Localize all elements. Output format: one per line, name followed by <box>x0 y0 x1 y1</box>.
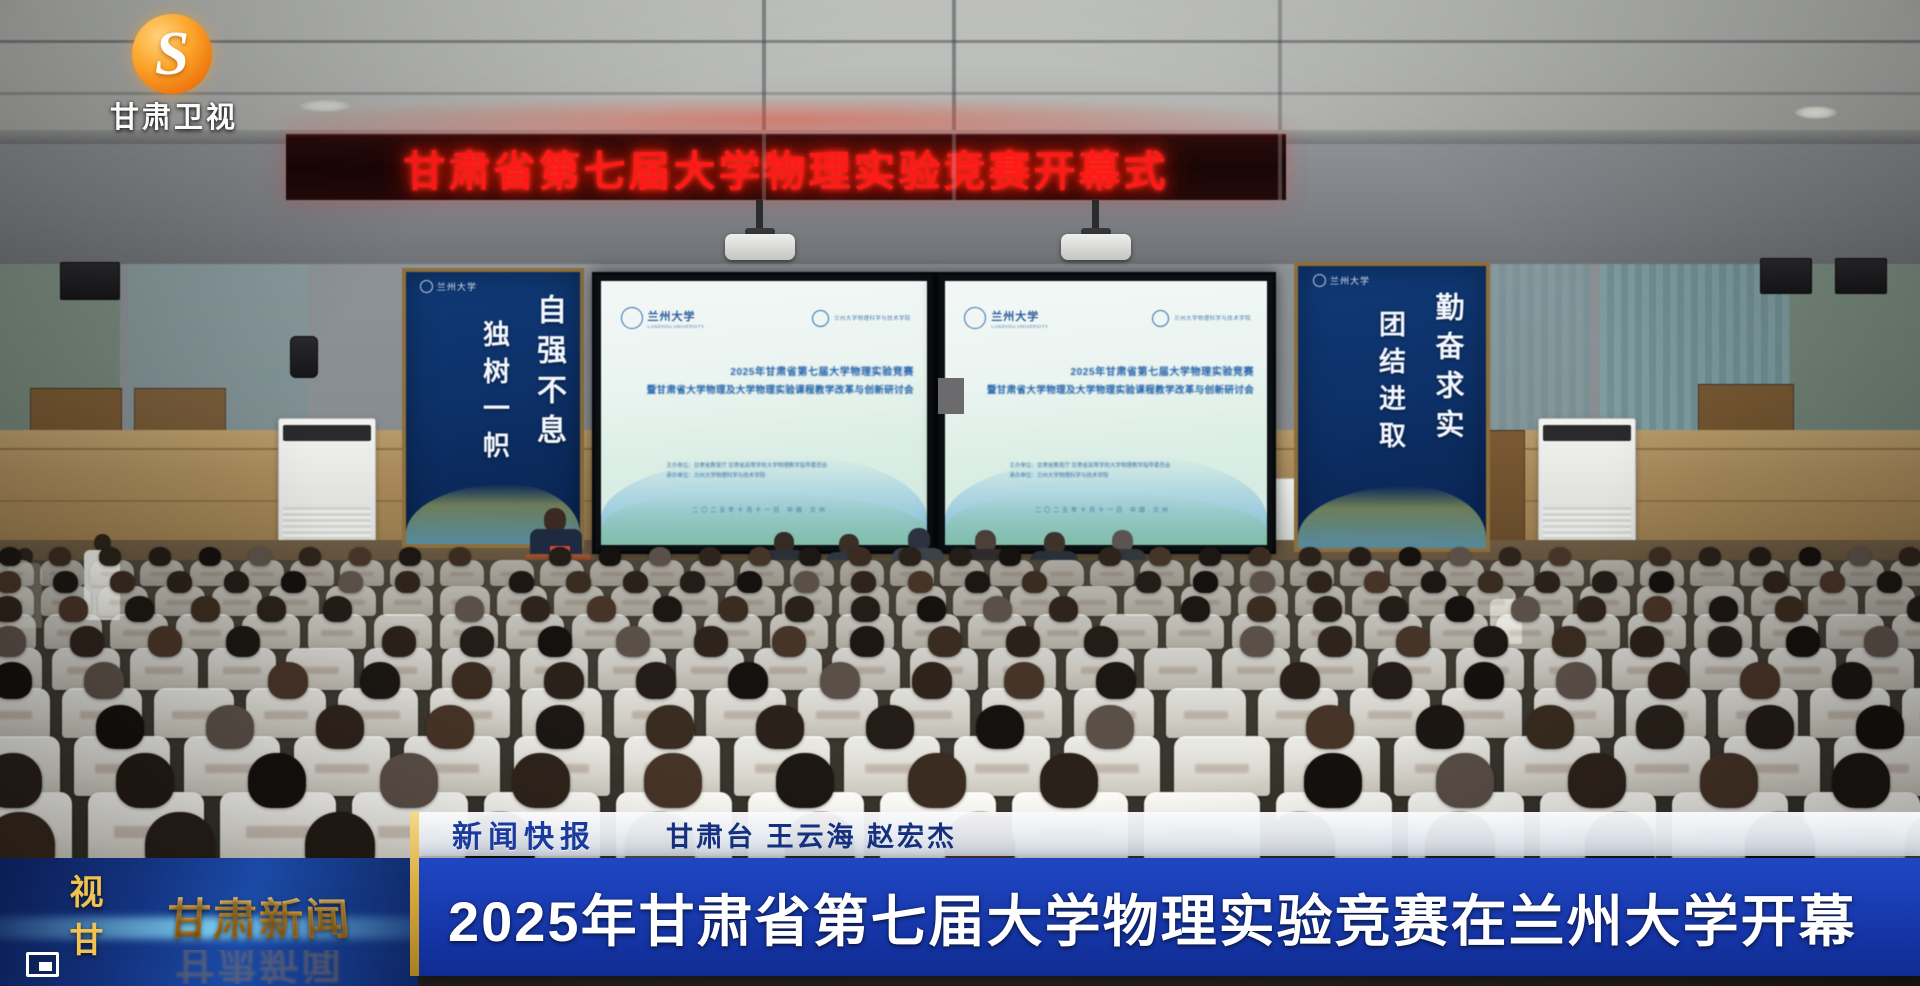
audience-head <box>116 753 174 808</box>
projection-screen-left: 兰州大学 LANZHOU UNIVERSITY 兰州大学物理科学与技术学院 20… <box>592 272 936 554</box>
lanzhou-university-logo: 兰州大学 LANZHOU UNIVERSITY <box>621 307 705 329</box>
banner-right: 兰州大学 勤奋求实 团结进取 <box>1294 262 1490 552</box>
audience-head <box>756 705 804 749</box>
audience-head <box>1535 571 1560 593</box>
slide-date-line: 二〇二五年十月十一日 中国·兰州 <box>1035 505 1171 514</box>
audience-head <box>1421 571 1446 593</box>
audience-head <box>1763 571 1788 593</box>
audience-head <box>249 547 271 566</box>
audience-head <box>1511 596 1540 622</box>
audience-head <box>1445 596 1474 622</box>
audience-head <box>776 753 834 808</box>
audience-head <box>820 662 860 699</box>
audience-chair <box>1902 688 1920 738</box>
audience-head <box>1746 705 1794 749</box>
slide-org-name-en: LANZHOU UNIVERSITY <box>648 324 705 329</box>
slide-title-line2: 暨甘肃省大学物理及大学物理实验课程教学改革与创新研讨会 <box>971 382 1254 396</box>
audience-head <box>1649 547 1671 566</box>
partner-seal-icon <box>1152 310 1169 327</box>
audience-head <box>1022 571 1047 593</box>
audience-head <box>452 662 492 699</box>
audience-head <box>226 626 260 657</box>
audience-chair <box>1174 736 1270 796</box>
audience-head <box>728 662 768 699</box>
banner-left-header: 兰州大学 <box>420 280 477 293</box>
audience-head <box>1899 547 1920 566</box>
audience-head <box>99 547 121 566</box>
audience-head <box>382 626 416 657</box>
university-seal-icon <box>964 307 986 329</box>
audience-head <box>1699 547 1721 566</box>
lower-third-headline-bar: 2025年甘肃省第七届大学物理实验竞赛在兰州大学开幕 <box>418 858 1920 976</box>
audience-head <box>191 596 220 622</box>
audience-head <box>1436 753 1494 808</box>
audience-head <box>206 705 254 749</box>
slide-org-name-en: LANZHOU UNIVERSITY <box>991 324 1048 329</box>
audience-head <box>0 626 26 657</box>
audience-head <box>1240 626 1274 657</box>
lower-third-accent-bar <box>410 812 419 976</box>
audience-head <box>268 662 308 699</box>
university-seal-icon <box>621 307 643 329</box>
audience-head <box>1877 571 1902 593</box>
audience-head <box>1304 753 1362 808</box>
audience-head <box>1556 662 1596 699</box>
university-seal-icon <box>1313 274 1326 287</box>
audience-head <box>737 571 762 593</box>
audience-head <box>455 596 484 622</box>
audience-head <box>536 705 584 749</box>
banner-left-motto-right: 自强不息 <box>526 294 570 504</box>
channel-name: 甘肃卫视 <box>110 94 350 136</box>
program-logo: 视甘 甘肃新闻 甘肃新闻 <box>0 858 418 986</box>
audience-head <box>794 571 819 593</box>
audience-head <box>1775 596 1804 622</box>
broadcast-frame: 甘肃省第七届大学物理实验竞赛开幕式 兰州大学 自强不息 独树一帜 <box>0 0 1920 986</box>
audience-head <box>908 753 966 808</box>
audience-head <box>1399 547 1421 566</box>
audience-head <box>1193 571 1218 593</box>
slide-meta-block: 主办单位：甘肃省教育厅 甘肃省高等学校大学物理教学指导委员会 承办单位：兰州大学… <box>666 461 827 482</box>
program-title: 甘肃新闻 <box>164 885 354 948</box>
audience-head <box>167 571 192 593</box>
audience-head <box>1549 547 1571 566</box>
audience-head <box>1086 705 1134 749</box>
banner-left-org: 兰州大学 <box>437 280 477 293</box>
audience-head <box>772 626 806 657</box>
audience-head <box>399 547 421 566</box>
audience-head <box>799 547 821 566</box>
ceiling-projector <box>1061 234 1131 260</box>
audience-head <box>1799 547 1821 566</box>
news-headline: 2025年甘肃省第七届大学物理实验竞赛在兰州大学开幕 <box>448 877 1857 958</box>
audience-head <box>96 705 144 749</box>
audience-head <box>1307 571 1332 593</box>
partner-seal-icon <box>812 310 829 327</box>
audience-head <box>323 596 352 622</box>
slide-org-name: 兰州大学 <box>648 308 705 324</box>
air-conditioner <box>1538 418 1636 560</box>
audience-head <box>866 705 914 749</box>
audience-head <box>623 571 648 593</box>
audience-head <box>1349 547 1371 566</box>
audience-head <box>1474 626 1508 657</box>
audience-head <box>1709 596 1738 622</box>
audience-head <box>1318 626 1352 657</box>
banner-right-motto-left: 团结进取 <box>1371 310 1410 500</box>
audience-head <box>257 596 286 622</box>
slide-partner-name: 兰州大学物理科学与技术学院 <box>834 314 911 322</box>
audience-head <box>1372 662 1412 699</box>
projection-screen-left-image: 兰州大学 LANZHOU UNIVERSITY 兰州大学物理科学与技术学院 20… <box>601 281 927 545</box>
audience-head <box>521 596 550 622</box>
audience-head <box>1526 705 1574 749</box>
audience-head <box>426 705 474 749</box>
slide-meta-line1: 主办单位：甘肃省教育厅 甘肃省高等学校大学物理教学指导委员会 <box>1009 461 1170 471</box>
audience-head <box>1249 547 1271 566</box>
banner-left-motto-left: 独树一帜 <box>475 320 514 510</box>
audience-head <box>1250 571 1275 593</box>
audience-head <box>380 753 438 808</box>
audience-head <box>1832 753 1890 808</box>
audience-head <box>1181 596 1210 622</box>
window-mullion <box>952 134 956 200</box>
audience-head <box>653 596 682 622</box>
audience-head <box>544 662 584 699</box>
audience-head <box>395 571 420 593</box>
audience-head <box>1280 662 1320 699</box>
audience-head <box>965 571 990 593</box>
audience-head <box>1552 626 1586 657</box>
wall-speaker <box>1760 258 1812 294</box>
audience-head <box>599 547 621 566</box>
audience-head <box>1084 626 1118 657</box>
audience-head <box>1396 626 1430 657</box>
banner-right-org: 兰州大学 <box>1330 274 1370 287</box>
audience-chair <box>1166 688 1246 738</box>
audience-head <box>1049 596 1078 622</box>
audience-head <box>1700 753 1758 808</box>
audience-head <box>1568 753 1626 808</box>
audience-head <box>460 626 494 657</box>
slide-title-line1: 2025年甘肃省第七届大学物理实验竞赛 <box>627 363 914 378</box>
audience-head <box>110 571 135 593</box>
window-mullion <box>762 134 766 200</box>
wall-speaker <box>60 262 120 300</box>
audience-head <box>999 547 1021 566</box>
audience-head <box>549 547 571 566</box>
audience-head <box>680 571 705 593</box>
audience-head <box>976 705 1024 749</box>
slide-title-block: 2025年甘肃省第七届大学物理实验竞赛 暨甘肃省大学物理及大学物理实验课程教学改… <box>971 363 1254 396</box>
slide-org-name: 兰州大学 <box>991 308 1048 324</box>
audience-head <box>125 596 154 622</box>
news-kicker: 新闻快报 <box>452 812 596 856</box>
audience-head <box>148 626 182 657</box>
air-conditioner <box>278 418 376 560</box>
audience-head <box>1636 705 1684 749</box>
audience-head <box>636 662 676 699</box>
audience-head <box>1708 626 1742 657</box>
banner-left: 兰州大学 自强不息 独树一帜 <box>402 268 584 548</box>
audience-head <box>224 571 249 593</box>
audience-head <box>338 571 363 593</box>
audience-head <box>248 753 306 808</box>
audience-head <box>538 626 572 657</box>
audience-head <box>851 596 880 622</box>
audience-head <box>699 547 721 566</box>
audience-head <box>59 596 88 622</box>
audience-head <box>899 547 921 566</box>
slide-meta-block: 主办单位：甘肃省教育厅 甘肃省高等学校大学物理教学指导委员会 承办单位：兰州大学… <box>1009 461 1170 482</box>
audience-head <box>851 571 876 593</box>
audience-head <box>1464 662 1504 699</box>
wall-speaker <box>290 336 318 378</box>
channel-logo-letter: S <box>132 14 212 94</box>
partner-logo: 兰州大学物理科学与技术学院 <box>1152 310 1251 327</box>
ceiling-projector <box>725 234 795 260</box>
audience-head <box>1149 547 1171 566</box>
audience-head <box>1907 596 1920 622</box>
audience-head <box>785 596 814 622</box>
window-mullion <box>1278 134 1282 200</box>
banner-right-header: 兰州大学 <box>1313 274 1370 287</box>
audience-head <box>1849 547 1871 566</box>
audience-chair <box>1144 648 1212 690</box>
audience-head <box>1786 626 1820 657</box>
program-title-3d: 甘肃新闻 <box>128 876 390 954</box>
program-logo-vertical-text: 视甘 <box>58 874 107 970</box>
audience-head <box>1832 662 1872 699</box>
ceiling-drop <box>938 378 964 414</box>
audience-head <box>644 753 702 808</box>
audience-head <box>649 547 671 566</box>
slide-title-block: 2025年甘肃省第七届大学物理实验竞赛 暨甘肃省大学物理及大学物理实验课程教学改… <box>627 363 914 396</box>
audience-head <box>983 596 1012 622</box>
audience-head <box>1749 547 1771 566</box>
audience-head <box>616 626 650 657</box>
led-banner: 甘肃省第七届大学物理实验竞赛开幕式 <box>286 134 1286 200</box>
audience-head <box>917 596 946 622</box>
audience-head <box>749 547 771 566</box>
slide-meta-line2: 承办单位：兰州大学物理科学与技术学院 <box>1009 471 1170 481</box>
slide-logos: 兰州大学 LANZHOU UNIVERSITY 兰州大学物理科学与技术学院 <box>964 307 1251 329</box>
audience-head <box>1004 662 1044 699</box>
projection-screen-right: 兰州大学 LANZHOU UNIVERSITY 兰州大学物理科学与技术学院 20… <box>936 272 1276 554</box>
audience-head <box>199 547 221 566</box>
audience-head <box>53 571 78 593</box>
wall-speaker <box>1835 258 1887 294</box>
program-title-mirror: 甘肃新闻 <box>175 950 343 984</box>
audience-head <box>908 571 933 593</box>
audience-head <box>1649 571 1674 593</box>
audience-head <box>0 662 32 699</box>
audience-head <box>1096 662 1136 699</box>
audience-head <box>646 705 694 749</box>
audience-head <box>912 662 952 699</box>
audience-head <box>928 626 962 657</box>
audience-head <box>1313 596 1342 622</box>
audience-head <box>449 547 471 566</box>
audience-head <box>1299 547 1321 566</box>
banner-right-motto-right: 勤奋求实 <box>1426 292 1468 492</box>
audience-head <box>1630 626 1664 657</box>
slide-meta-line2: 承办单位：兰州大学物理科学与技术学院 <box>666 471 827 481</box>
lower-third-kicker-bar: 新闻快报 甘肃台 王云海 赵宏杰 <box>418 812 1920 856</box>
audience-head <box>1820 571 1845 593</box>
audience-head <box>149 547 171 566</box>
audience-head <box>949 547 971 566</box>
projection-screen-right-image: 兰州大学 LANZHOU UNIVERSITY 兰州大学物理科学与技术学院 20… <box>945 281 1267 545</box>
audience-head <box>70 626 104 657</box>
audience-head <box>1006 626 1040 657</box>
program-title-reflection: 甘肃新闻 <box>128 950 390 984</box>
audience-head <box>1449 547 1471 566</box>
audience-head <box>281 571 306 593</box>
audience-head <box>1864 626 1898 657</box>
audience-head <box>1379 596 1408 622</box>
audience-head <box>0 596 22 622</box>
slide-meta-line1: 主办单位：甘肃省教育厅 甘肃省高等学校大学物理教学指导委员会 <box>666 461 827 471</box>
audience-head <box>587 596 616 622</box>
led-banner-text: 甘肃省第七届大学物理实验竞赛开幕式 <box>403 138 1168 199</box>
audience-head <box>1577 596 1606 622</box>
audience-head <box>694 626 728 657</box>
ceiling-light <box>1795 106 1837 119</box>
audience-head <box>1040 753 1098 808</box>
audience-head <box>1499 547 1521 566</box>
audience-head <box>49 547 71 566</box>
audience-head <box>719 596 748 622</box>
audience-head <box>1416 705 1464 749</box>
audience-head <box>0 547 21 566</box>
audience-head <box>1478 571 1503 593</box>
audience-head <box>1136 571 1161 593</box>
audience-head <box>349 547 371 566</box>
partner-logo: 兰州大学物理科学与技术学院 <box>812 310 911 327</box>
audience-head <box>1592 571 1617 593</box>
pip-inner-frame <box>39 962 52 971</box>
audience-head <box>0 571 21 593</box>
slide-date-line: 二〇二五年十月十一日 中国·兰州 <box>692 505 828 514</box>
audience-head <box>84 662 124 699</box>
audience-head <box>1643 596 1672 622</box>
audience-head <box>316 705 364 749</box>
audience-head <box>849 547 871 566</box>
banner-right-wave <box>1298 486 1486 548</box>
news-credit: 甘肃台 王云海 赵宏杰 <box>666 815 957 854</box>
lanzhou-university-logo: 兰州大学 LANZHOU UNIVERSITY <box>964 307 1048 329</box>
slide-title-line1: 2025年甘肃省第七届大学物理实验竞赛 <box>971 363 1254 378</box>
audience-head <box>1740 662 1780 699</box>
audience-head <box>1199 547 1221 566</box>
audience-head <box>566 571 591 593</box>
picture-in-picture-icon[interactable] <box>26 952 59 977</box>
audience-head <box>850 626 884 657</box>
university-seal-icon <box>420 280 433 293</box>
audience-head <box>1247 596 1276 622</box>
audience-head <box>512 753 570 808</box>
audience-head <box>1306 705 1354 749</box>
slide-logos: 兰州大学 LANZHOU UNIVERSITY 兰州大学物理科学与技术学院 <box>621 307 911 329</box>
audience-head <box>360 662 400 699</box>
audience-head <box>1856 705 1904 749</box>
audience-head <box>1648 662 1688 699</box>
audience-head <box>509 571 534 593</box>
channel-logo: S 甘肃卫视 <box>110 14 350 126</box>
slide-title-line2: 暨甘肃省大学物理及大学物理实验课程教学改革与创新研讨会 <box>627 382 914 396</box>
audience-head <box>1099 547 1121 566</box>
audience-head <box>299 547 321 566</box>
audience-head <box>1364 571 1389 593</box>
slide-partner-name: 兰州大学物理科学与技术学院 <box>1174 314 1251 322</box>
